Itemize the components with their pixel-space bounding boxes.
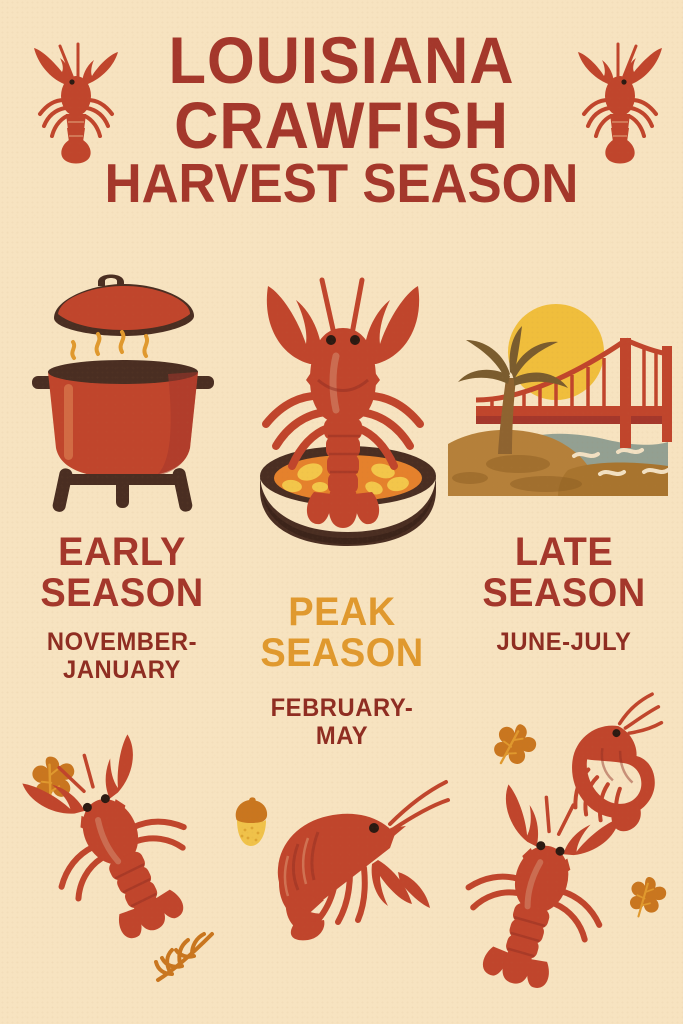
season-months-peak: FEBRUARY- MAY xyxy=(238,694,447,750)
season-months-early-line2: JANUARY xyxy=(14,656,231,684)
pot-lid-icon xyxy=(54,275,194,337)
title-line-3: HARVEST SEASON xyxy=(24,157,659,211)
season-months-peak-line2: MAY xyxy=(238,722,447,750)
lobster-icon xyxy=(444,792,634,992)
season-heading-late-line1: LATE xyxy=(456,532,673,573)
season-months-early: NOVEMBER- JANUARY xyxy=(14,628,231,684)
title-line-1: LOUISIANA xyxy=(24,28,659,93)
season-heading-peak: PEAK SEASON xyxy=(238,592,447,674)
season-months-late: JUNE-JULY xyxy=(456,628,673,656)
season-heading-late: LATE SEASON xyxy=(456,532,673,614)
poster-title: LOUISIANA CRAWFISH HARVEST SEASON xyxy=(0,28,683,211)
oak-leaf-icon xyxy=(622,872,674,924)
season-heading-early-line1: EARLY xyxy=(14,532,231,573)
season-months-early-line1: NOVEMBER- xyxy=(14,628,231,656)
crawfish-in-bowl-illustration xyxy=(248,268,448,560)
crawfish-icon xyxy=(250,772,450,942)
poster-canvas: LOUISIANA CRAWFISH HARVEST SEASON xyxy=(0,0,683,1024)
lobster-icon xyxy=(22,748,212,938)
title-line-2: CRAWFISH xyxy=(24,93,659,158)
season-block-early: EARLY SEASON NOVEMBER- JANUARY xyxy=(8,532,236,684)
season-heading-early-line2: SEASON xyxy=(14,573,231,614)
season-heading-peak-line2: SEASON xyxy=(238,633,447,674)
bridge-bayou-illustration xyxy=(448,296,668,506)
steam-icon xyxy=(72,332,147,358)
season-months-peak-line1: FEBRUARY- xyxy=(238,694,447,722)
season-heading-peak-line1: PEAK xyxy=(238,592,447,633)
season-months-late-line1: JUNE-JULY xyxy=(456,628,673,656)
sprig-icon xyxy=(150,926,222,988)
crawfish-boil-pot-illustration xyxy=(28,272,218,512)
season-heading-early: EARLY SEASON xyxy=(14,532,231,614)
season-heading-late-line2: SEASON xyxy=(456,573,673,614)
season-block-peak: PEAK SEASON FEBRUARY- MAY xyxy=(232,592,452,750)
season-block-late: LATE SEASON JUNE-JULY xyxy=(450,532,678,656)
